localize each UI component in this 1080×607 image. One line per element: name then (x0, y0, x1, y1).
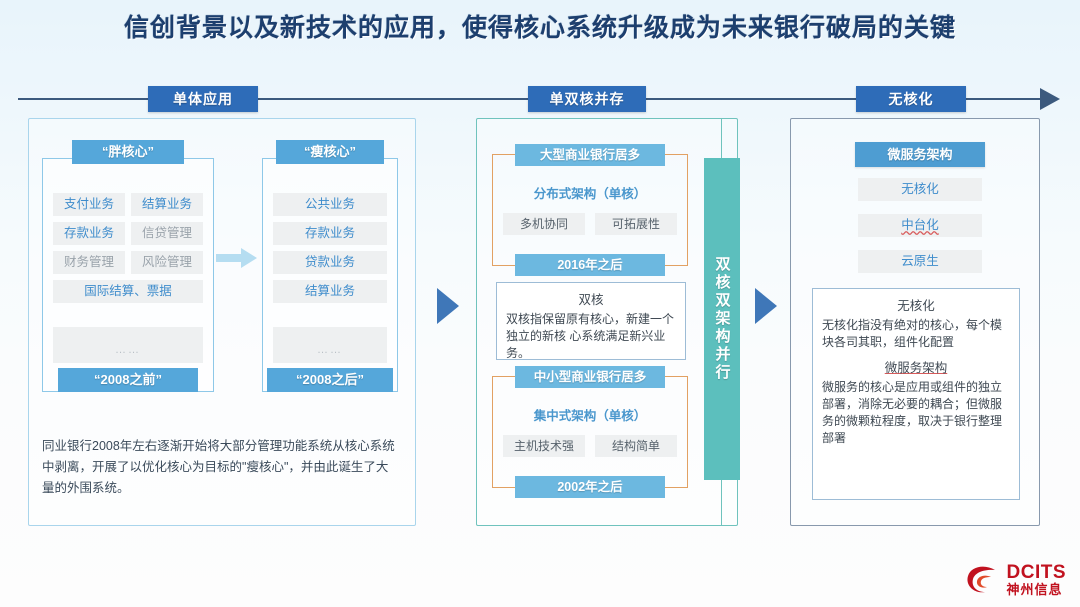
small-medium-bank-group: 中小型商业银行居多 集中式架构（单核） 主机技术强 结构简单 2002年之后 (492, 376, 688, 488)
dual-core-note-body: 双核指保留原有核心，新建一个独立的新核 心系统满足新兴业务。 (497, 311, 685, 362)
timeline-stage-1[interactable]: 单体应用 (148, 86, 258, 112)
module-row (273, 309, 387, 321)
small-medium-bank-header: 中小型商业银行居多 (515, 366, 665, 388)
module-item[interactable]: 风险管理 (131, 251, 203, 274)
large-bank-footer: 2016年之后 (515, 254, 665, 276)
fat-to-thin-arrow-right-icon (216, 247, 258, 269)
module-spacer (273, 309, 387, 321)
module-item[interactable]: 支付业务 (53, 193, 125, 216)
small-medium-bank-footer: 2002年之后 (515, 476, 665, 498)
module-row: 支付业务 结算业务 (53, 193, 203, 216)
module-row: 公共业务 (273, 193, 387, 216)
module-row: …… (273, 327, 387, 363)
teal-bar-stem-top (721, 119, 722, 159)
module-row: 贷款业务 (273, 251, 387, 274)
module-item[interactable]: 结算业务 (131, 193, 203, 216)
module-row: 存款业务 (273, 222, 387, 245)
microservice-item-cloudnative[interactable]: 云原生 (858, 250, 982, 273)
module-spacer (53, 309, 203, 321)
coreless-note-title-2: 微服务架构 (813, 357, 1019, 376)
tag-item[interactable]: 可拓展性 (595, 213, 677, 235)
fat-core-box: 支付业务 结算业务 存款业务 信贷管理 财务管理 风险管理 国际结算、票据 …… (42, 158, 214, 392)
module-row: …… (53, 327, 203, 363)
small-medium-bank-subtitle: 集中式架构（单核） (493, 405, 687, 424)
panel1-caption: 同业银行2008年左右逐渐开始将大部分管理功能系统从核心系统中剥离，开展了以优化… (42, 436, 400, 499)
thin-core-header: “瘦核心” (276, 140, 384, 164)
fat-core-footer: “2008之前” (58, 368, 198, 392)
page-title: 信创背景以及新技术的应用，使得核心系统升级成为未来银行破局的关键 (0, 8, 1080, 44)
panel2-to-panel3-arrow-right-icon (755, 288, 777, 324)
module-row: 国际结算、票据 (53, 280, 203, 303)
microservice-architecture-header: 微服务架构 (855, 142, 985, 167)
module-ellipsis: …… (273, 327, 387, 363)
teal-bar-stem-bottom (721, 480, 722, 525)
fat-core-group: 支付业务 结算业务 存款业务 信贷管理 财务管理 风险管理 国际结算、票据 ……… (42, 140, 214, 392)
coreless-note-body-2: 微服务的核心是应用或组件的独立部署，消除无必要的耦合；但微服务的微颗粒程度，取决… (813, 379, 1019, 447)
module-item[interactable]: 贷款业务 (273, 251, 387, 274)
company-logo: DCITS 神州信息 (965, 563, 1067, 597)
coreless-note-body-1: 无核化指没有绝对的核心，每个模块各司其职，组件化配置 (813, 317, 1019, 351)
module-row: 存款业务 信贷管理 (53, 222, 203, 245)
fat-core-module-grid: 支付业务 结算业务 存款业务 信贷管理 财务管理 风险管理 国际结算、票据 …… (53, 193, 203, 369)
module-row: 财务管理 风险管理 (53, 251, 203, 274)
logo-text: DCITS 神州信息 (1007, 563, 1067, 597)
module-item[interactable]: 结算业务 (273, 280, 387, 303)
module-item[interactable]: 信贷管理 (131, 222, 203, 245)
module-item[interactable]: 存款业务 (273, 222, 387, 245)
dcits-swoosh-icon (965, 564, 1001, 596)
coreless-note-title-1: 无核化 (813, 295, 1019, 314)
thin-core-box: 公共业务 存款业务 贷款业务 结算业务 …… (262, 158, 398, 392)
thin-core-module-list: 公共业务 存款业务 贷款业务 结算业务 …… (273, 193, 387, 369)
module-row: 结算业务 (273, 280, 387, 303)
module-item[interactable]: 财务管理 (53, 251, 125, 274)
tag-item[interactable]: 多机协同 (503, 213, 585, 235)
dual-core-dual-architecture-bar: 双核双架构并行 (704, 158, 740, 480)
microservice-item-midplatform[interactable]: 中台化 (858, 214, 982, 237)
fat-core-header: “胖核心” (72, 140, 184, 164)
module-row (53, 309, 203, 321)
thin-core-group: 公共业务 存款业务 贷款业务 结算业务 …… “瘦核心” “2008之后” (262, 140, 398, 392)
timeline: 单体应用 单双核并存 无核化 (0, 86, 1080, 112)
module-item-international-settlement[interactable]: 国际结算、票据 (53, 280, 203, 303)
timeline-stage-2[interactable]: 单双核并存 (528, 86, 646, 112)
tag-item[interactable]: 主机技术强 (503, 435, 585, 457)
module-item[interactable]: 公共业务 (273, 193, 387, 216)
microservice-item-coreless[interactable]: 无核化 (858, 178, 982, 201)
tag-item[interactable]: 结构简单 (595, 435, 677, 457)
small-medium-bank-tags: 主机技术强 结构简单 (503, 435, 677, 457)
timeline-stage-3[interactable]: 无核化 (856, 86, 966, 112)
module-item[interactable]: 存款业务 (53, 222, 125, 245)
dual-core-note: 双核 双核指保留原有核心，新建一个独立的新核 心系统满足新兴业务。 (496, 282, 686, 360)
timeline-arrow-right-icon (1040, 88, 1060, 110)
large-bank-header: 大型商业银行居多 (515, 144, 665, 166)
thin-core-footer: “2008之后” (267, 368, 393, 392)
panel1-to-panel2-arrow-right-icon (437, 288, 459, 324)
large-bank-tags: 多机协同 可拓展性 (503, 213, 677, 235)
coreless-note: 无核化 无核化指没有绝对的核心，每个模块各司其职，组件化配置 微服务架构 微服务… (812, 288, 1020, 500)
large-bank-group: 大型商业银行居多 分布式架构（单核） 多机协同 可拓展性 2016年之后 (492, 154, 688, 266)
logo-text-en: DCITS (1007, 563, 1067, 583)
large-bank-subtitle: 分布式架构（单核） (493, 183, 687, 202)
module-ellipsis: …… (53, 327, 203, 363)
dual-core-note-title: 双核 (497, 289, 685, 308)
logo-text-cn: 神州信息 (1007, 583, 1067, 597)
